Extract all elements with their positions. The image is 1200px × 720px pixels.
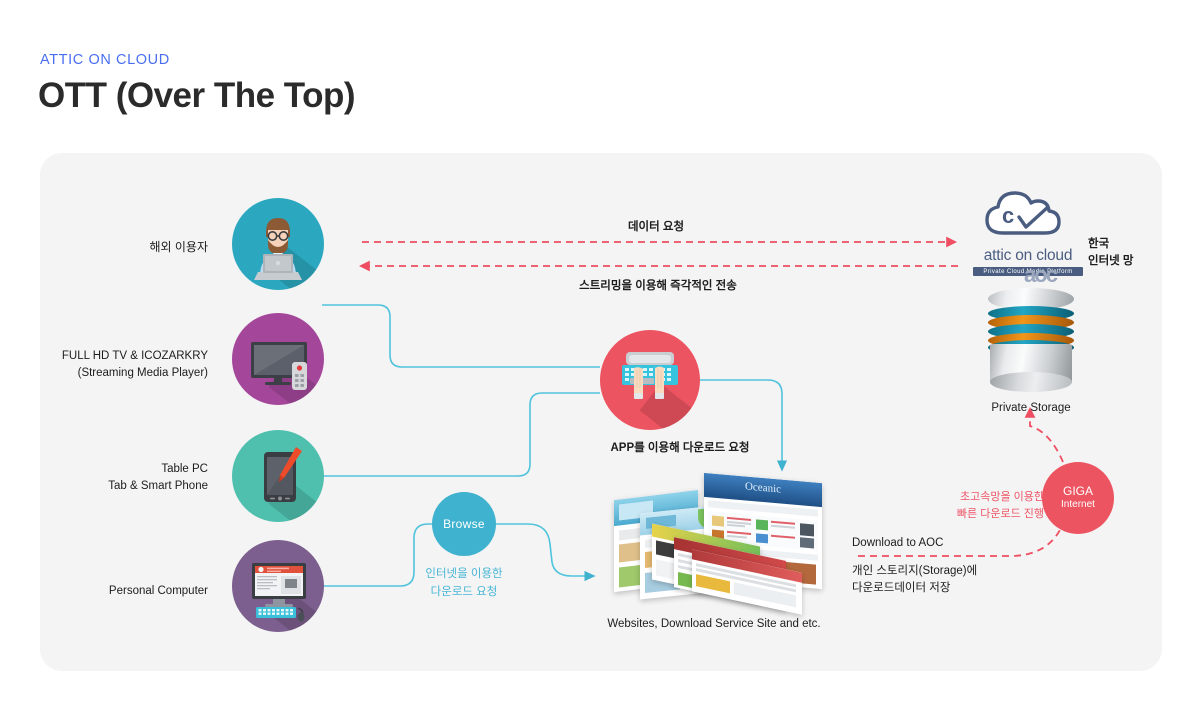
caption-fast-download: 초고속망을 이용한 빠른 다운로드 진행 [916,489,1044,523]
label-fullhd-line1: FULL HD TV & ICOZARKRY [60,348,208,365]
caption-storage-save: 개인 스토리지(Storage)에 다운로드데이터 저장 [852,563,1072,598]
websites-collage: Oceanic [600,473,828,606]
korea-network-label: 한국 인터넷 망 [1088,236,1134,269]
giga-line2: Internet [1061,499,1095,512]
caption-storage-line2: 다운로드데이터 저장 [852,580,1072,597]
private-storage-label: Private Storage [961,400,1101,417]
label-tablet-line1: Table PC [62,461,208,478]
caption-app-download-request: APP를 이용해 다운로드 요청 [560,440,800,457]
label-tablet-line2: Tab & Smart Phone [62,478,208,495]
svg-text:c: c [1002,203,1014,228]
private-storage-icon [988,288,1074,388]
caption-streaming-transfer: 스트리밍을 이용해 즉각적인 전송 [536,278,780,295]
television-icon [232,313,324,405]
desktop-computer-icon [232,540,324,632]
label-fullhd-line2: (Streaming Media Player) [60,365,208,382]
korea-network-line2: 인터넷 망 [1088,253,1134,270]
caption-internet-download-request: 인터넷을 이용한 다운로드 요청 [404,566,524,602]
node-app-keyboard[interactable] [600,330,700,430]
node-fullhd-tv[interactable] [232,313,324,405]
hands-on-keyboard-icon [600,330,700,430]
cloud-check-icon: c [973,183,1083,241]
storage-base [990,372,1072,392]
aoc-abbreviation: aoc [1010,262,1070,288]
label-personal-computer: Personal Computer [60,583,208,600]
label-fullhd-tv: FULL HD TV & ICOZARKRY (Streaming Media … [60,348,208,381]
label-overseas-user: 해외 이용자 [98,239,208,256]
browse-button[interactable]: Browse [432,492,496,556]
label-tablet-phone: Table PC Tab & Smart Phone [62,461,208,494]
browse-label: Browse [443,517,485,531]
giga-line1: GIGA [1063,484,1093,499]
node-personal-computer[interactable] [232,540,324,632]
caption-fast-line1: 초고속망을 이용한 [916,489,1044,506]
caption-download-to-aoc: Download to AOC [852,535,1052,552]
giga-internet-node[interactable]: GIGA Internet [1042,462,1114,534]
caption-storage-line1: 개인 스토리지(Storage)에 [852,563,1072,580]
tablet-stylus-icon [232,430,324,522]
caption-data-request: 데이터 요청 [556,219,756,236]
page-title: OTT (Over The Top) [38,76,355,116]
caption-fast-line2: 빠른 다운로드 진행 [916,506,1044,523]
korea-network-line1: 한국 [1088,236,1134,253]
websites-caption: Websites, Download Service Site and etc. [564,616,864,633]
ott-diagram-page: ATTIC ON CLOUD OTT (Over The Top) [0,0,1200,720]
caption-internet-line1: 인터넷을 이용한 [404,566,524,584]
eyebrow-text: ATTIC ON CLOUD [40,52,170,68]
node-overseas-user[interactable] [232,198,324,290]
caption-internet-line2: 다운로드 요청 [404,584,524,602]
man-with-laptop-icon [232,198,324,290]
node-tablet-phone[interactable] [232,430,324,522]
